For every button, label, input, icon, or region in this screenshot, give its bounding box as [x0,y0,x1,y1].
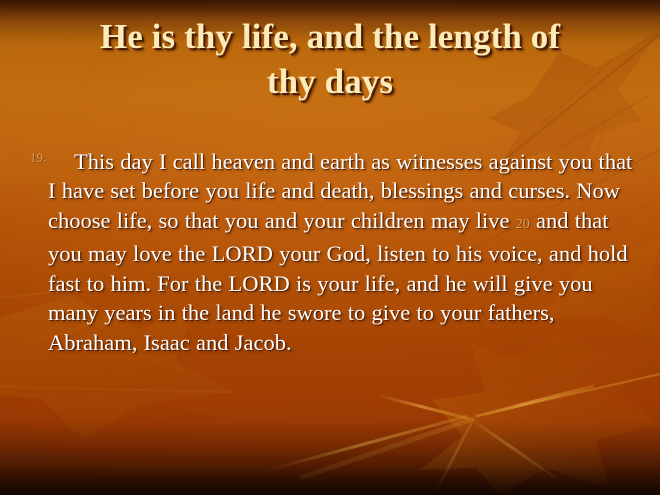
scripture-text: This day I call heaven and earth as witn… [48,147,634,358]
verse-number-19: 19. [30,151,46,164]
page-title: He is thy life, and the length of thy da… [34,14,626,104]
slide-title-block: He is thy life, and the length of thy da… [34,14,626,104]
verse-number-20: 20 [516,217,530,232]
scripture-paragraph: 19. This day I call heaven and earth as … [30,147,634,358]
presentation-slide: He is thy life, and the length of thy da… [0,0,660,495]
slide-body-block: 19. This day I call heaven and earth as … [30,124,634,380]
